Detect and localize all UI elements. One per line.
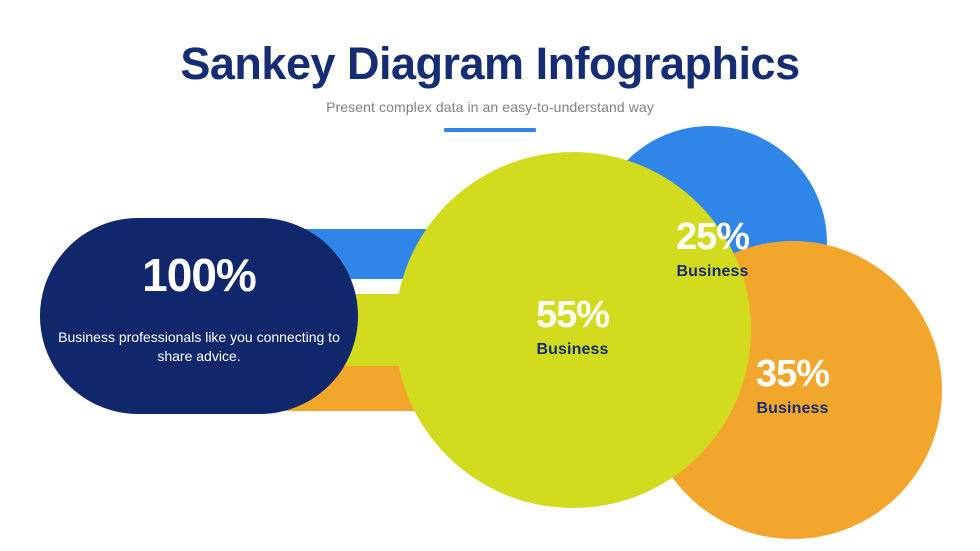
page-title: Sankey Diagram Infographics <box>0 40 980 87</box>
slide-header: Sankey Diagram Infographics Present comp… <box>0 0 980 132</box>
page-subtitle: Present complex data in an easy-to-under… <box>0 99 980 115</box>
node-circle-green[interactable] <box>395 152 751 508</box>
title-underline-divider <box>444 128 536 132</box>
node-capsule-navy[interactable] <box>40 218 358 414</box>
slide-canvas: Sankey Diagram Infographics Present comp… <box>0 0 980 551</box>
